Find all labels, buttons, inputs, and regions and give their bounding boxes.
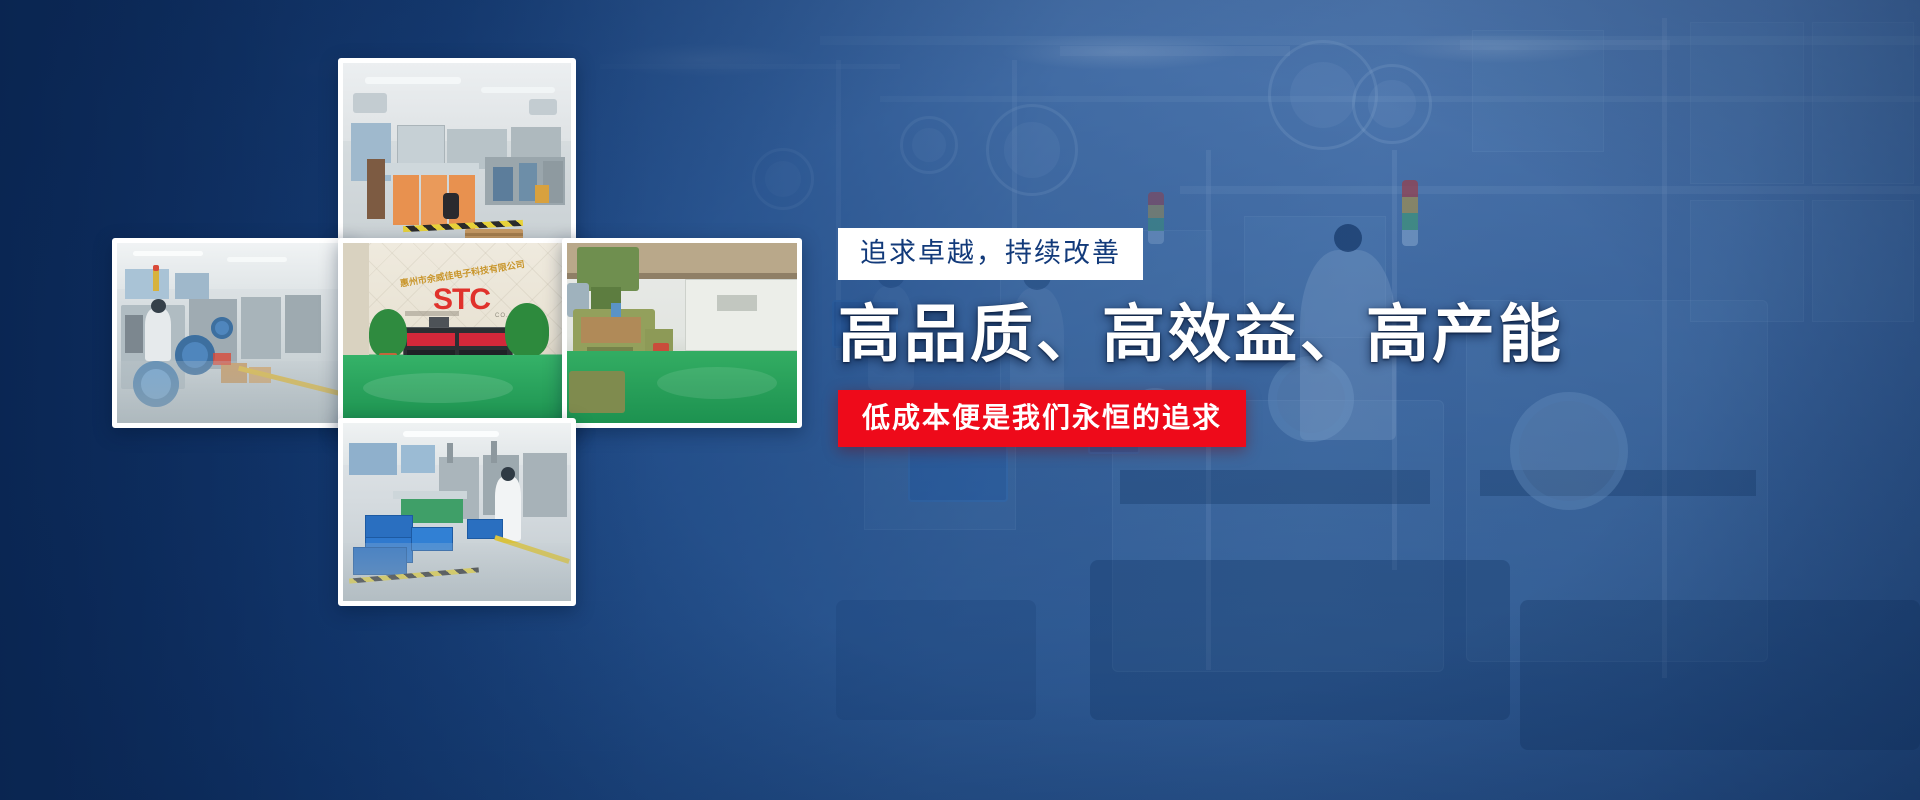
collage-photo-left <box>112 238 352 428</box>
page-title: 高品质、高效益、高产能 <box>838 298 1418 372</box>
tagline-badge: 低成本便是我们永恒的追求 <box>838 390 1246 447</box>
eyebrow-badge: 追求卓越，持续改善 <box>838 228 1143 280</box>
collage-photo-bottom <box>338 418 576 606</box>
hero-banner: 惠州市余威佳电子科技有限公司 STC CO.,LTD <box>0 0 1920 800</box>
hero-copy-block: 追求卓越，持续改善 高品质、高效益、高产能 低成本便是我们永恒的追求 <box>838 228 1418 447</box>
collage-photo-right <box>562 238 802 428</box>
photo-collage: 惠州市余威佳电子科技有限公司 STC CO.,LTD <box>0 0 820 800</box>
collage-photo-center: 惠州市余威佳电子科技有限公司 STC CO.,LTD <box>338 238 576 428</box>
